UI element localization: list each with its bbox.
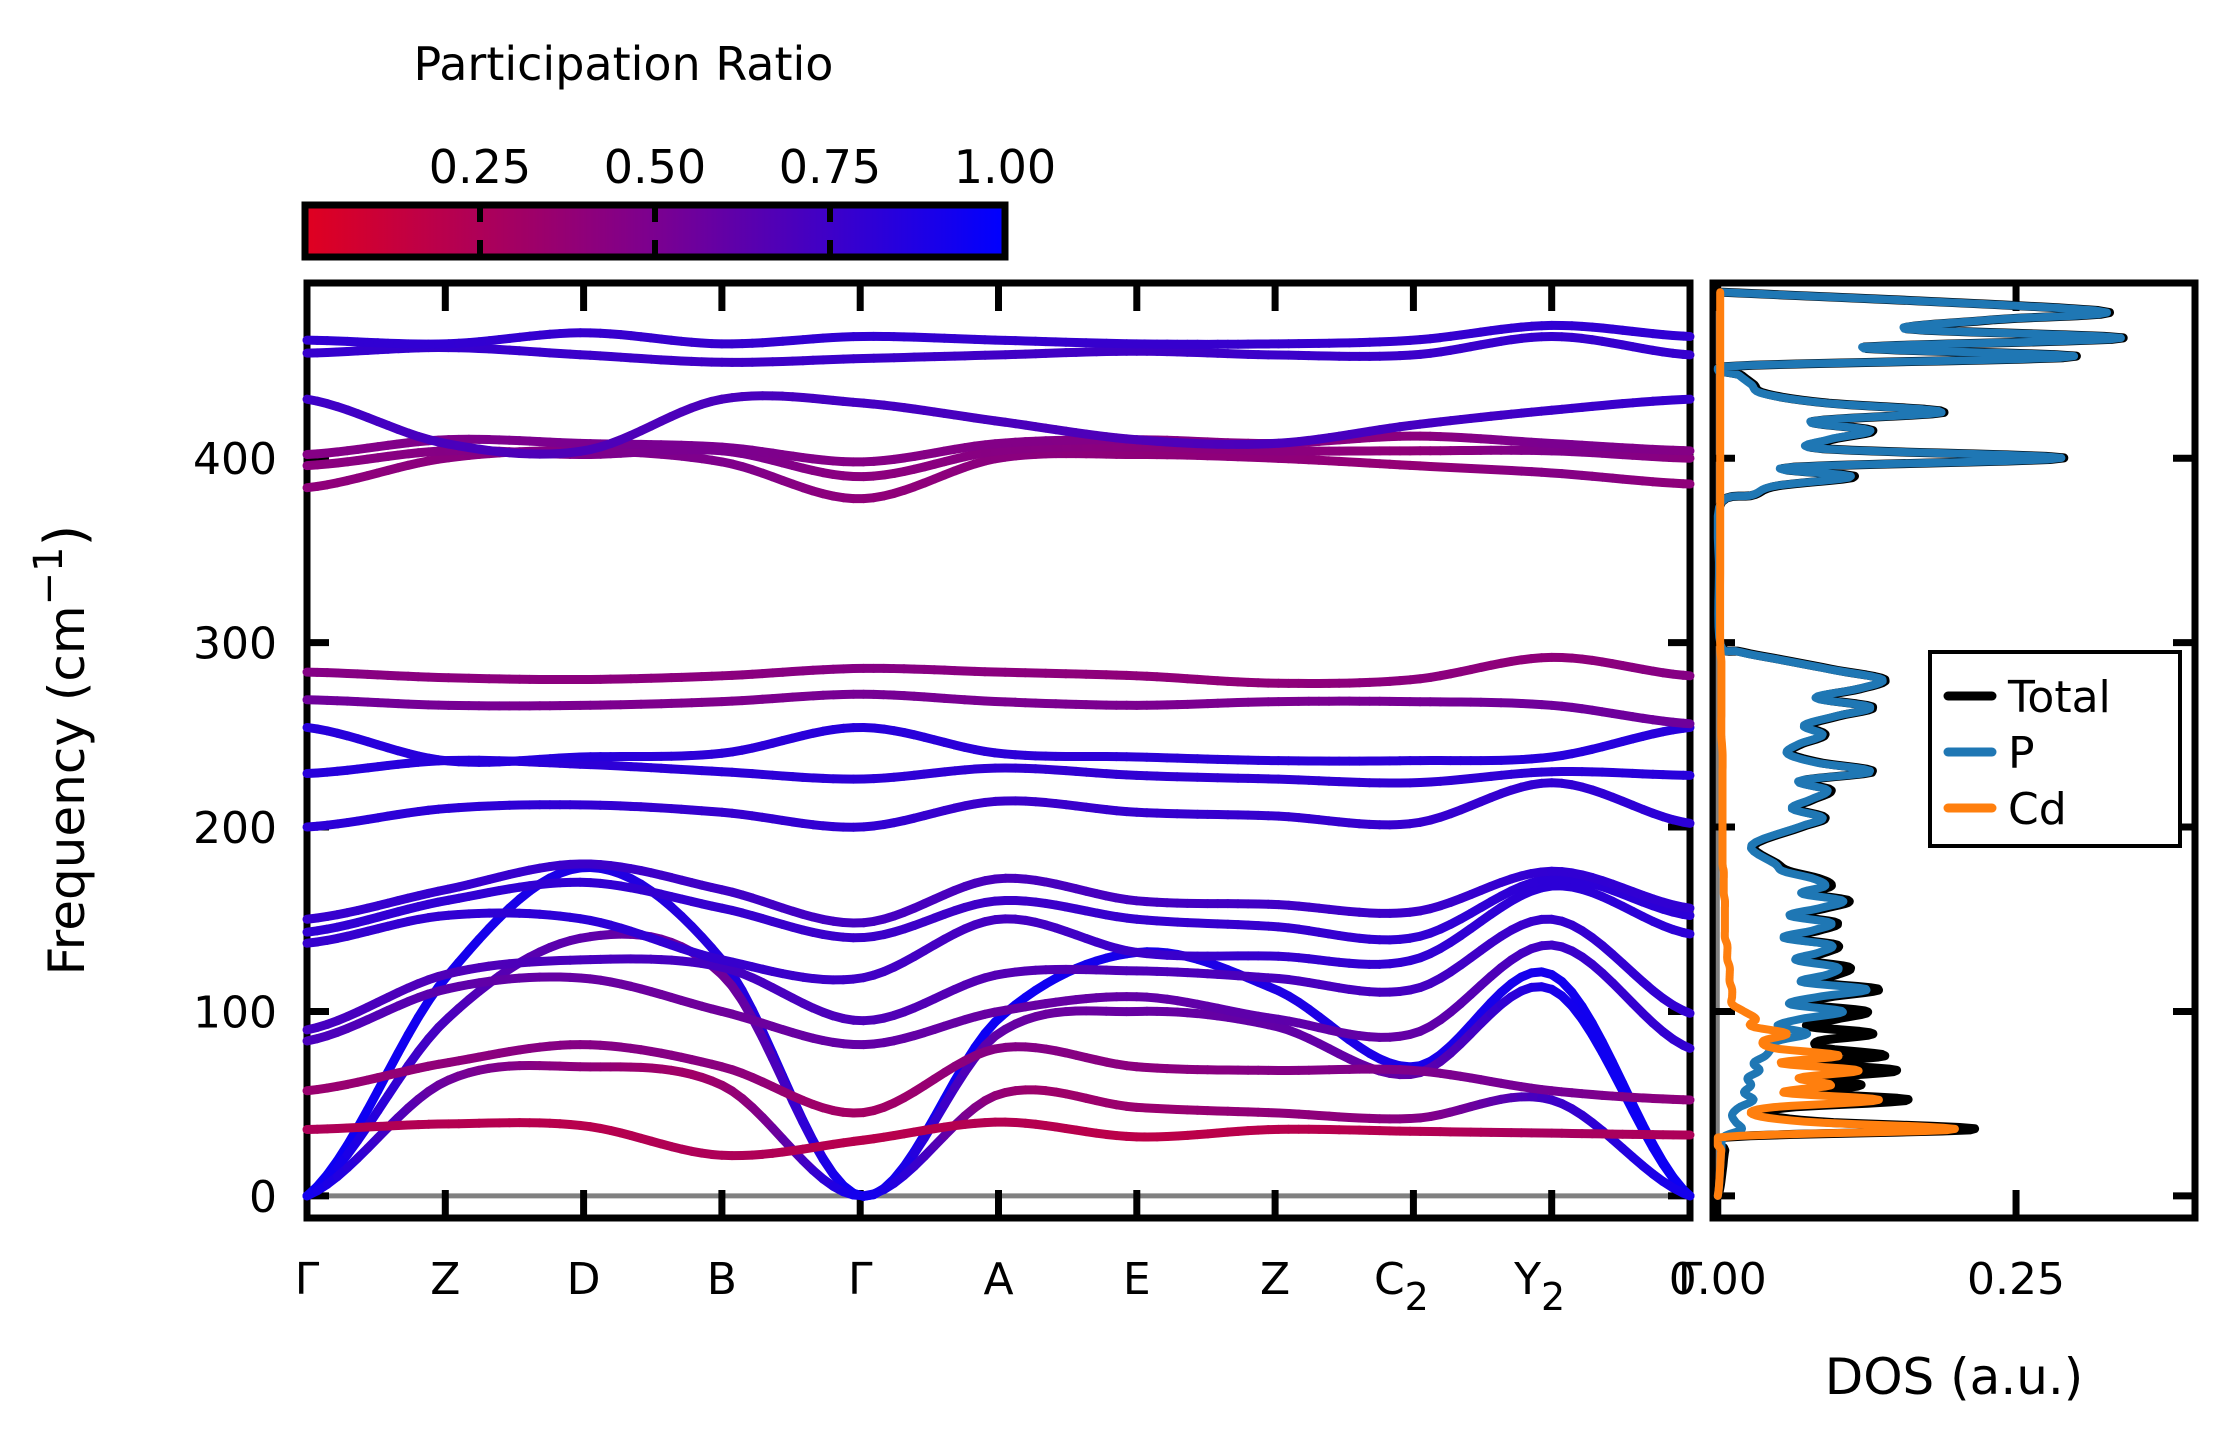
x-axis-tick-label: Γ <box>848 1254 873 1305</box>
y-axis-tick-label: 100 <box>193 987 277 1038</box>
legend-label-p: P <box>2008 728 2035 779</box>
x-axis-tick-label: E <box>1123 1254 1151 1305</box>
dos-x-tick-label: 0.00 <box>1669 1254 1767 1305</box>
figure-canvas: 0.250.500.751.00Participation Ratio01002… <box>0 0 2222 1455</box>
colorbar-title: Participation Ratio <box>414 37 834 91</box>
y-axis-tick-label: 400 <box>193 434 277 485</box>
legend-label-total: Total <box>2007 672 2111 723</box>
x-axis-tick-label: Γ <box>295 1254 320 1305</box>
band-segment <box>1683 914 1690 915</box>
x-axis-tick-label: D <box>567 1254 601 1305</box>
colorbar: 0.250.500.751.00Participation Ratio <box>305 37 1056 257</box>
svg-text:Frequency (cm−1): Frequency (cm−1) <box>26 525 98 976</box>
x-axis-tick-label: A <box>983 1254 1013 1305</box>
band-segment <box>1683 1193 1690 1196</box>
band-segment <box>1683 354 1690 355</box>
dos-panel: 0.000.25DOS (a.u.)TotalPCd <box>1669 283 2195 1406</box>
y-axis-tick-label: 200 <box>193 803 277 854</box>
dos-x-axis-label: DOS (a.u.) <box>1825 1348 2084 1406</box>
x-axis-tick-label: B <box>707 1254 737 1305</box>
x-axis-tick-label: C2 <box>1374 1254 1429 1319</box>
dos-x-tick-label: 0.25 <box>1967 1254 2065 1305</box>
band-segment <box>1683 933 1690 934</box>
x-axis-tick-label: Z <box>1260 1254 1290 1305</box>
colorbar-tick-label: 0.75 <box>779 140 881 194</box>
colorbar-tick-label: 0.50 <box>604 140 706 194</box>
y-axis-tick-label: 0 <box>249 1172 277 1223</box>
x-axis-tick-label: Y2 <box>1513 1254 1565 1319</box>
y-axis-label: Frequency (cm−1) <box>26 525 98 976</box>
x-axis-tick-label: Z <box>430 1254 460 1305</box>
y-axis-tick-label: 300 <box>193 619 277 670</box>
band-segment <box>1683 723 1690 724</box>
band-segment <box>1683 907 1690 908</box>
dos-legend: TotalPCd <box>1930 652 2180 846</box>
colorbar-tick-label: 1.00 <box>954 140 1056 194</box>
band-segment <box>1683 1011 1690 1014</box>
band-segment <box>1683 675 1690 676</box>
phonon-figure: 0.250.500.751.00Participation Ratio01002… <box>0 0 2222 1455</box>
legend-label-cd: Cd <box>2008 784 2067 835</box>
band-segment <box>1683 822 1690 823</box>
colorbar-tick-label: 0.25 <box>429 140 531 194</box>
band-segment <box>1683 1045 1690 1048</box>
